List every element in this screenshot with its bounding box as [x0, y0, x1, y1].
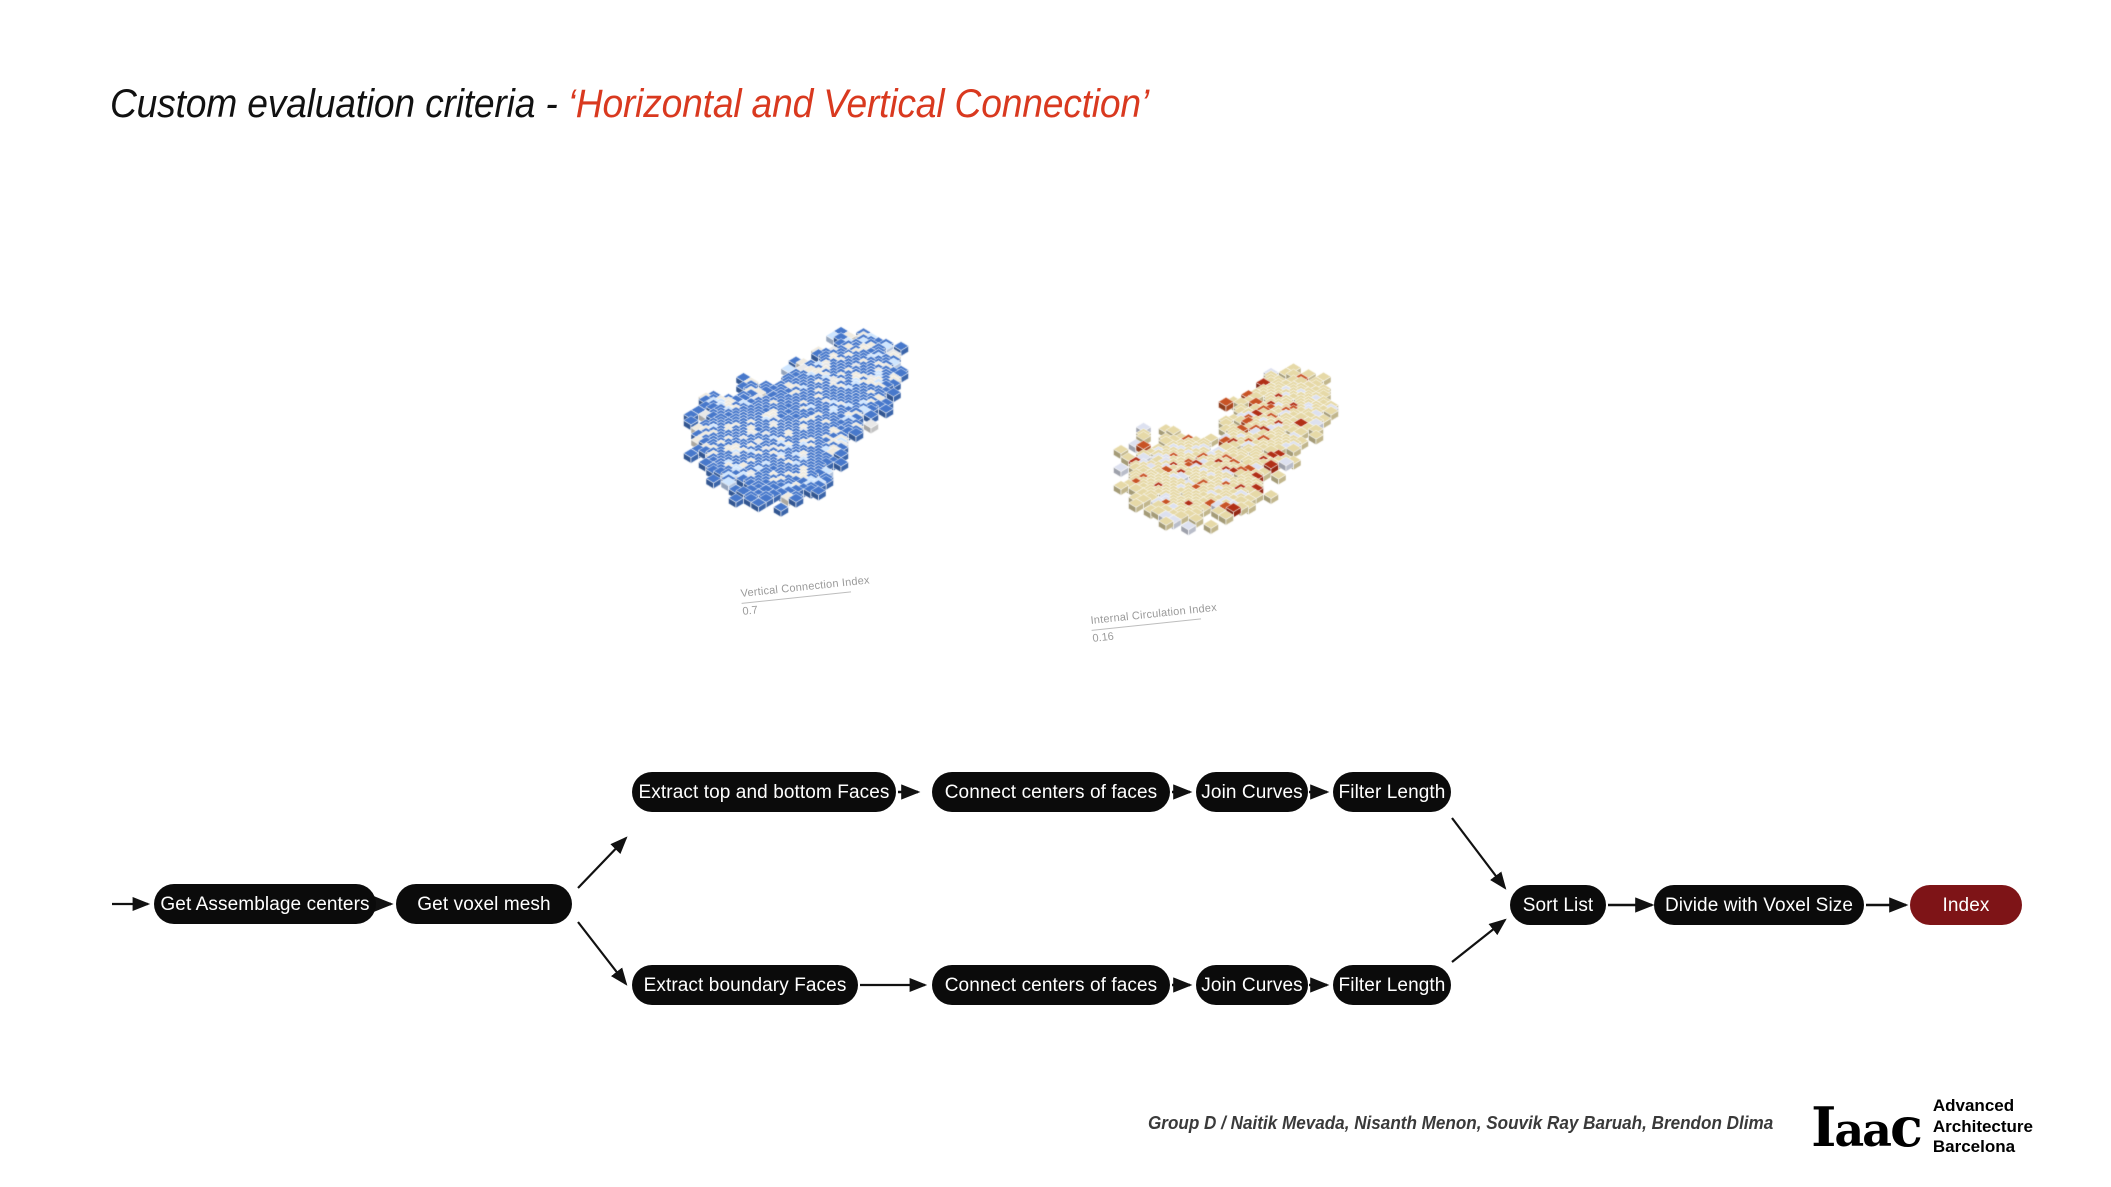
flow-node-get-assemblage-centers[interactable]: Get Assemblage centers [154, 884, 376, 924]
model-gallery: Vertical Connection Index 0.7 Internal C… [0, 150, 2111, 710]
flow-node-join-curves-top[interactable]: Join Curves [1196, 772, 1308, 812]
flow-node-divide-with-voxel-size[interactable]: Divide with Voxel Size [1654, 885, 1864, 925]
flow-node-label: Extract top and bottom Faces [639, 783, 890, 802]
internal-circulation-caption: Internal Circulation Index 0.16 [1090, 602, 1219, 645]
iaac-logo-text: Advanced Architecture Barcelona [1933, 1096, 2033, 1158]
flow-node-label: Filter Length [1339, 976, 1446, 995]
credits-line: Group D / Naitik Mevada, Nisanth Menon, … [1148, 1113, 1773, 1134]
logo-letter-a1: a [1834, 1103, 1862, 1157]
flow-node-label: Divide with Voxel Size [1665, 896, 1853, 915]
page-title-plain: Custom evaluation criteria - [110, 82, 568, 126]
flow-node-index[interactable]: Index [1910, 885, 2022, 925]
flow-node-filter-length-top[interactable]: Filter Length [1333, 772, 1451, 812]
flow-node-join-curves-bottom[interactable]: Join Curves [1196, 965, 1308, 1005]
vertical-connection-model: Vertical Connection Index 0.7 [620, 140, 960, 560]
page-title-accent: ‘Horizontal and Vertical Connection’ [568, 82, 1149, 126]
flow-node-label: Connect centers of faces [945, 976, 1158, 995]
logo-line-barcelona: Barcelona [1933, 1137, 2033, 1158]
flow-node-label: Join Curves [1201, 976, 1302, 995]
flow-node-label: Get Assemblage centers [160, 895, 369, 914]
flow-node-extract-boundary-faces[interactable]: Extract boundary Faces [632, 965, 858, 1005]
flow-node-label: Index [1943, 896, 1990, 915]
flow-node-label: Connect centers of faces [945, 783, 1158, 802]
iaac-logo: Iaac Advanced Architecture Barcelona [1811, 1096, 2033, 1158]
vertical-connection-caption: Vertical Connection Index 0.7 [740, 574, 872, 617]
flow-node-sort-list[interactable]: Sort List [1510, 885, 1606, 925]
logo-letter-c: c [1890, 1095, 1921, 1159]
flow-node-connect-centers-of-faces-bottom[interactable]: Connect centers of faces [932, 965, 1170, 1005]
logo-letter-a2: a [1862, 1103, 1890, 1157]
flow-node-label: Join Curves [1201, 783, 1302, 802]
internal-circulation-model: Internal Circulation Index 0.16 [1060, 160, 1380, 590]
iaac-logo-mark: Iaac [1811, 1104, 1921, 1151]
vertical-connection-voxel-render [620, 140, 960, 560]
logo-letter-i: I [1811, 1095, 1834, 1159]
logo-line-architecture: Architecture [1933, 1117, 2033, 1138]
logo-line-advanced: Advanced [1933, 1096, 2033, 1117]
flow-node-get-voxel-mesh[interactable]: Get voxel mesh [396, 884, 572, 924]
flow-node-connect-centers-of-faces-top[interactable]: Connect centers of faces [932, 772, 1170, 812]
flow-node-label: Get voxel mesh [417, 895, 550, 914]
flow-node-label: Filter Length [1339, 783, 1446, 802]
flow-node-extract-top-and-bottom-faces[interactable]: Extract top and bottom Faces [632, 772, 896, 812]
flow-node-filter-length-bottom[interactable]: Filter Length [1333, 965, 1451, 1005]
process-flowchart: Get Assemblage centers Get voxel mesh Ex… [0, 740, 2111, 1050]
internal-circulation-voxel-render [1060, 160, 1380, 590]
flow-node-label: Extract boundary Faces [644, 976, 847, 995]
flow-node-label: Sort List [1523, 896, 1594, 915]
page-title: Custom evaluation criteria - ‘Horizontal… [110, 82, 1149, 127]
